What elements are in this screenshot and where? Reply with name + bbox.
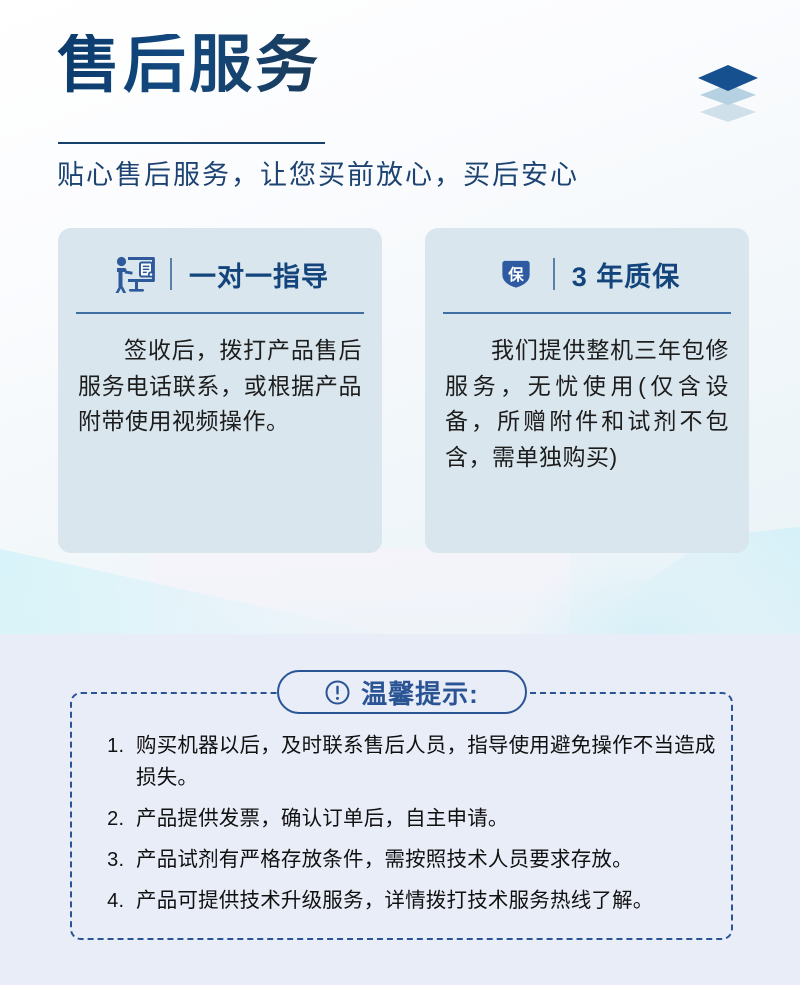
warranty-shield-icon: 保	[494, 253, 538, 295]
stacked-layers-icon	[692, 60, 764, 126]
card-header-divider	[170, 258, 172, 290]
tips-section: 温馨提示: 购买机器以后，及时联系售后人员，指导使用避免操作不当造成损失。 产品…	[70, 692, 733, 940]
service-cards: 一对一指导 签收后，拨打产品售后服务电话联系，或根据产品附带使用视频操作。 保 …	[0, 228, 800, 554]
card-header: 保 3 年质保	[425, 247, 749, 301]
card-divider	[443, 312, 731, 314]
card-header: 一对一指导	[58, 247, 382, 301]
tips-list: 购买机器以后，及时联系售后人员，指导使用避免操作不当造成损失。 产品提供发票，确…	[90, 730, 719, 926]
presentation-training-icon	[111, 253, 155, 295]
page-title: 售后服务	[57, 34, 321, 97]
card-three-year-warranty: 保 3 年质保 我们提供整机三年包修服务，无忧使用(仅含设备，所赠附件和试剂不包…	[425, 228, 749, 553]
card-body-text: 我们提供整机三年包修服务，无忧使用(仅含设备，所赠附件和试剂不包含，需单独购买)	[445, 333, 729, 476]
exclamation-circle-icon	[325, 680, 350, 705]
svg-text:保: 保	[507, 265, 524, 284]
title-underline	[58, 142, 325, 144]
tips-badge-label: 温馨提示:	[361, 674, 479, 711]
poster-page: 售后服务 贴心售后服务，让您买前放心，买后安心	[0, 0, 800, 985]
page-header: 售后服务 贴心售后服务，让您买前放心，买后安心	[0, 0, 800, 228]
list-item: 产品提供发票，确认订单后，自主申请。	[130, 803, 719, 835]
list-item: 产品可提供技术升级服务，详情拨打技术服务热线了解。	[130, 885, 719, 917]
page-subtitle: 贴心售后服务，让您买前放心，买后安心	[57, 157, 579, 193]
card-header-divider	[553, 258, 555, 290]
card-divider	[76, 312, 364, 314]
list-item: 购买机器以后，及时联系售后人员，指导使用避免操作不当造成损失。	[130, 730, 719, 794]
list-item: 产品试剂有严格存放条件，需按照技术人员要求存放。	[130, 844, 719, 876]
card-one-to-one-guidance: 一对一指导 签收后，拨打产品售后服务电话联系，或根据产品附带使用视频操作。	[58, 228, 382, 553]
tips-badge: 温馨提示:	[277, 670, 527, 714]
card-body-text: 签收后，拨打产品售后服务电话联系，或根据产品附带使用视频操作。	[78, 333, 362, 440]
card-title: 3 年质保	[572, 255, 681, 294]
card-title: 一对一指导	[189, 255, 329, 294]
